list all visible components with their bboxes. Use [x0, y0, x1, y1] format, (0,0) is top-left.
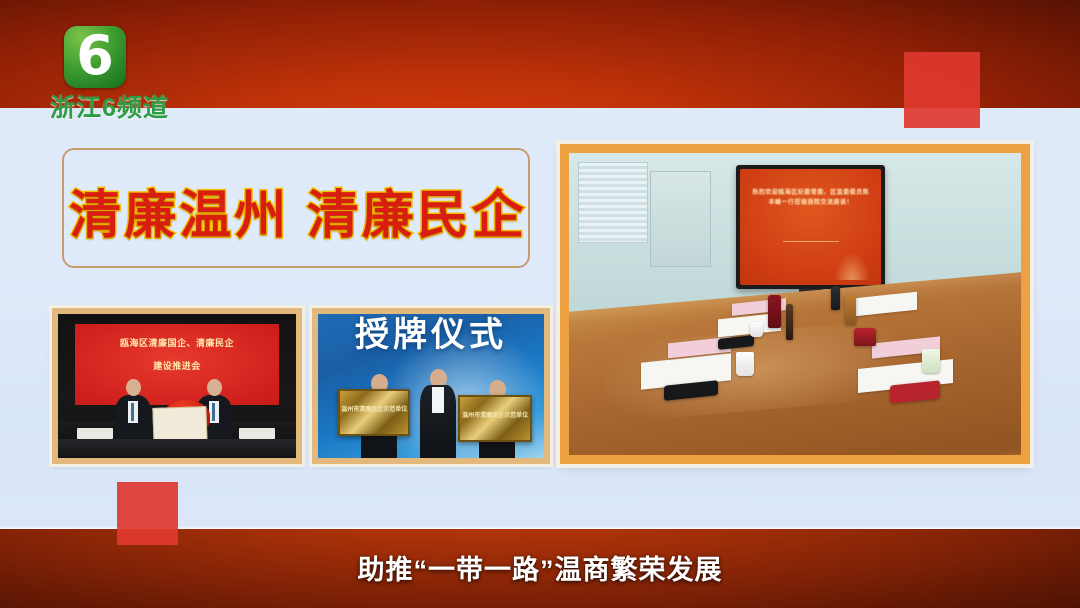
microphone — [831, 286, 840, 310]
name-plate — [239, 428, 275, 440]
name-plate — [77, 428, 113, 440]
paper-cup — [750, 322, 764, 337]
headline-box: 清廉温州 清廉民企 — [62, 148, 530, 268]
plaque-ceremony-photo: 授牌仪式 温州市清廉民企示范单位 温州市清廉民企示范单位 — [312, 308, 550, 464]
room-door — [650, 171, 711, 267]
backdrop-line-1: 瓯海区清廉国企、清廉民企 — [87, 335, 267, 351]
ceremony-title: 授牌仪式 — [323, 315, 540, 355]
logo-number: 6 — [64, 26, 126, 88]
headline-text: 清廉温州 清廉民企 — [64, 150, 532, 270]
award-plaque-right: 温州市清廉民企示范单位 — [458, 395, 532, 442]
paper-cup — [736, 352, 754, 376]
thermos-bottle — [768, 295, 782, 328]
front-table — [58, 439, 296, 458]
meeting-room-photo: 热烈欢迎瓯海区纪委常委、区监委委员陈丰峰一行莅临我院交流座谈！ — [560, 144, 1030, 464]
display-screen: 热烈欢迎瓯海区纪委常委、区监委委员陈丰峰一行莅临我院交流座谈！ — [740, 169, 881, 285]
lower-third-caption: 助推“一带一路”温商繁荣发展 — [0, 548, 1080, 587]
display-graphic — [831, 241, 873, 280]
accent-square-top-right — [904, 52, 980, 128]
window-blinds — [578, 162, 648, 243]
broadcast-graphic: 6 浙江6频道 清廉温州 清廉民企 热烈欢迎瓯海区纪委常委、区监委委员陈丰峰一行… — [0, 0, 1080, 608]
thermos-bottle — [845, 295, 856, 325]
paper-cup — [922, 349, 940, 373]
channel-name: 浙江6频道 — [50, 92, 200, 124]
channel-6-logo-icon: 6 — [64, 26, 126, 88]
wall-display: 热烈欢迎瓯海区纪委常委、区监委委员陈丰峰一行莅临我院交流座谈！ — [736, 165, 885, 289]
backdrop-line-2: 建设推进会 — [87, 358, 267, 374]
channel-logo: 6 浙江6频道 — [50, 26, 200, 130]
award-plaque-left-text: 温州市清廉民企示范单位 — [340, 391, 408, 415]
award-plaque-left: 温州市清廉民企示范单位 — [338, 389, 410, 436]
stage-backdrop: 瓯海区清廉国企、清廉民企 建设推进会 — [75, 324, 280, 405]
conference-promotion-photo: 瓯海区清廉国企、清廉民企 建设推进会 — [52, 308, 302, 464]
accent-square-bottom-left — [117, 482, 178, 545]
display-screen-text: 热烈欢迎瓯海区纪委常委、区监委委员陈丰峰一行莅临我院交流座谈！ — [752, 188, 871, 208]
award-plaque-right-text: 温州市清廉民企示范单位 — [460, 397, 530, 421]
microphone — [786, 304, 793, 340]
name-card — [854, 328, 877, 346]
official-left — [115, 395, 151, 438]
